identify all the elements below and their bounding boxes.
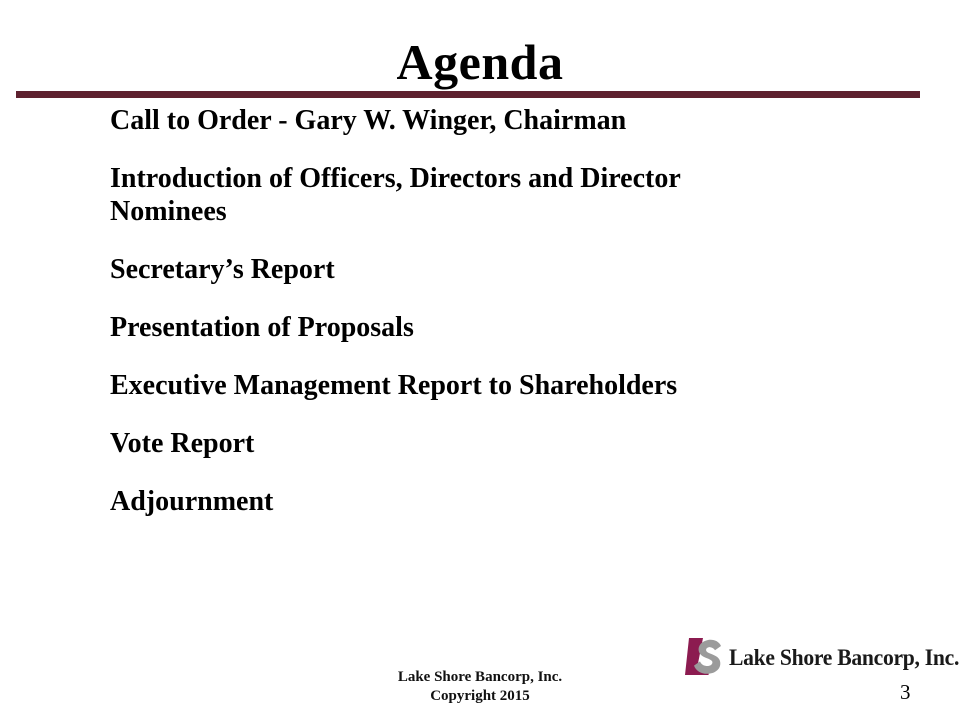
lake-shore-ls-monogram-icon: [683, 635, 727, 681]
logo-wordmark: Lake Shore Bancorp, Inc.: [729, 645, 959, 671]
agenda-item-secretarys-report: Secretary’s Report: [110, 253, 850, 286]
agenda-item-executive-management-report: Executive Management Report to Sharehold…: [110, 369, 850, 402]
footer-copyright: Lake Shore Bancorp, Inc. Copyright 2015: [280, 668, 680, 706]
footer-copyright-year: Copyright 2015: [280, 687, 680, 706]
page-title: Agenda: [0, 34, 960, 90]
slide-agenda: Agenda Call to Order - Gary W. Winger, C…: [0, 0, 960, 720]
agenda-item-call-to-order: Call to Order - Gary W. Winger, Chairman: [110, 104, 850, 137]
company-logo: Lake Shore Bancorp, Inc.: [683, 632, 923, 684]
agenda-item-adjournment: Adjournment: [110, 485, 850, 518]
agenda-item-vote-report: Vote Report: [110, 427, 850, 460]
agenda-list: Call to Order - Gary W. Winger, Chairman…: [110, 104, 850, 543]
agenda-item-introduction-of-officers: Introduction of Officers, Directors and …: [110, 162, 790, 228]
agenda-item-presentation-of-proposals: Presentation of Proposals: [110, 311, 850, 344]
title-divider: [16, 91, 920, 98]
footer-company-name: Lake Shore Bancorp, Inc.: [398, 669, 562, 685]
